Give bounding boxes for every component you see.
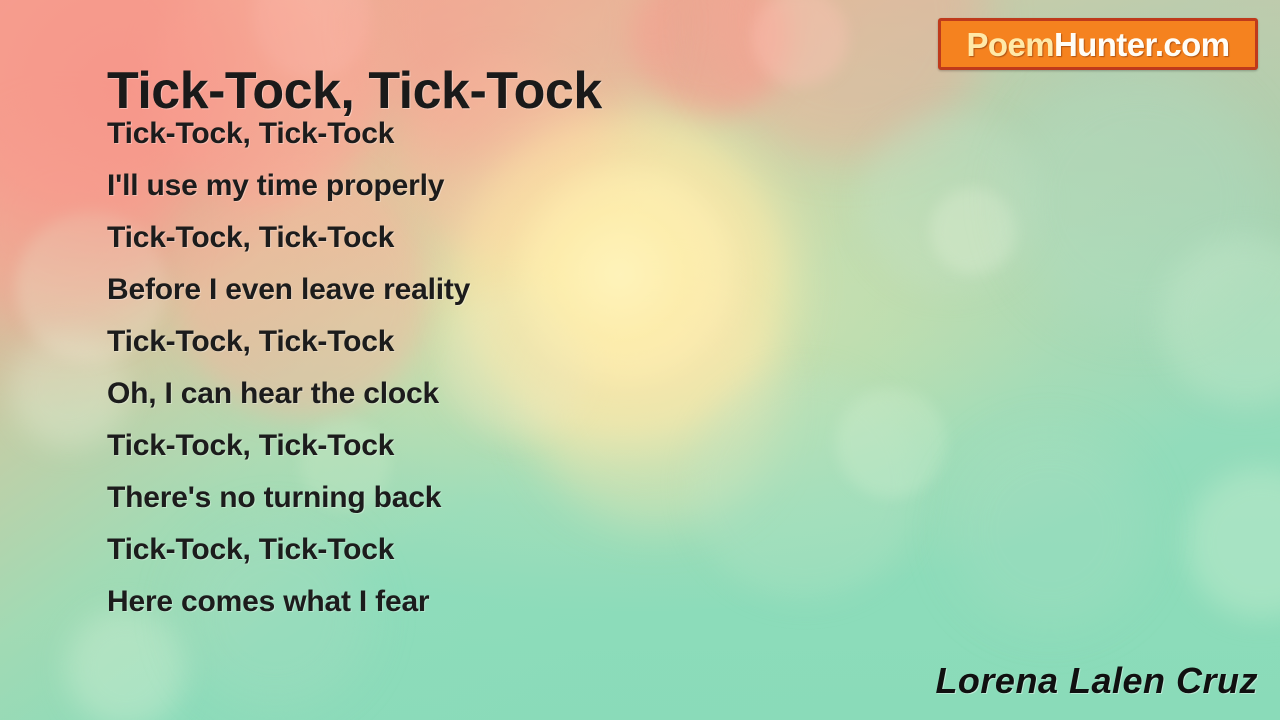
poemhunter-logo[interactable]: PoemHunter.com [938, 18, 1258, 70]
poem-line: Tick-Tock, Tick-Tock [107, 316, 867, 368]
poem-image-card: Tick-Tock, Tick-Tock PoemHunter.com Tick… [0, 0, 1280, 720]
poem-line: Tick-Tock, Tick-Tock [107, 420, 867, 472]
brand-name-hunter: Hunter.com [1054, 26, 1230, 63]
poem-line: There's no turning back [107, 472, 867, 524]
poem-line: Oh, I can hear the clock [107, 368, 867, 420]
brand-name-poem: Poem [966, 26, 1053, 63]
poemhunter-logo-text: PoemHunter.com [966, 28, 1229, 61]
poem-line: I'll use my time properly [107, 160, 867, 212]
poem-line: Tick-Tock, Tick-Tock [107, 212, 867, 264]
poem-line: Here comes what I fear [107, 576, 867, 628]
poem-line: Before I even leave reality [107, 264, 867, 316]
poem-line: Tick-Tock, Tick-Tock [107, 108, 867, 160]
poem-line: Tick-Tock, Tick-Tock [107, 524, 867, 576]
poem-author: Lorena Lalen Cruz [935, 660, 1258, 702]
poem-body: Tick-Tock, Tick-Tock I'll use my time pr… [107, 108, 867, 628]
